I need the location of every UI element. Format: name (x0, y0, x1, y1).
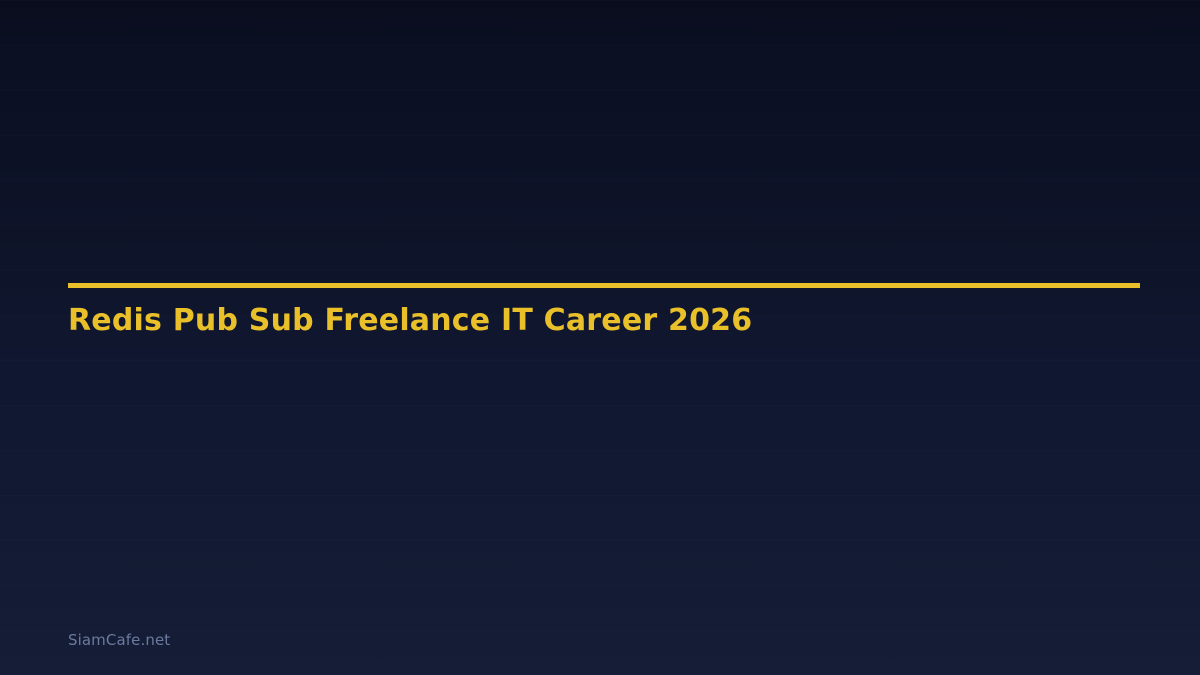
footer: SiamCafe.net (68, 630, 170, 649)
slide-canvas: Redis Pub Sub Freelance IT Career 2026 S… (0, 0, 1200, 675)
footer-brand-label: SiamCafe.net (68, 631, 170, 649)
page-title: Redis Pub Sub Freelance IT Career 2026 (68, 288, 1140, 338)
title-block: Redis Pub Sub Freelance IT Career 2026 (68, 283, 1140, 338)
